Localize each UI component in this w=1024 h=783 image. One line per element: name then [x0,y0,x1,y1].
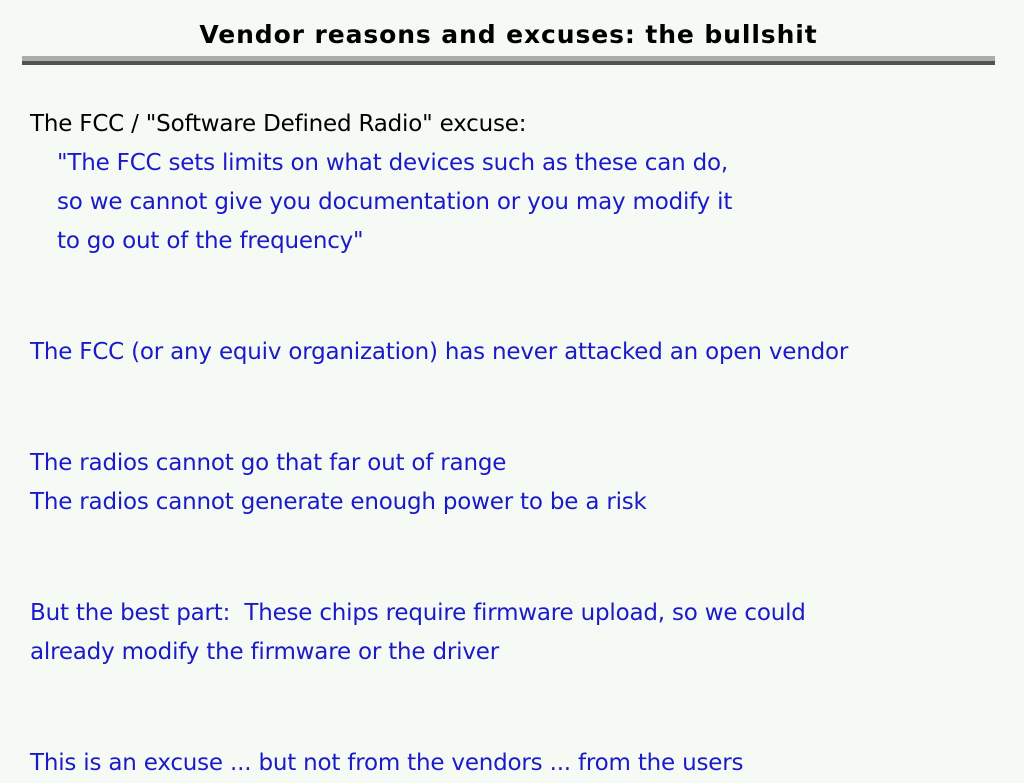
body-line: to go out of the frequency" [30,222,1005,261]
text-block: But the best part: These chips require f… [30,594,1005,672]
body-line: The radios cannot generate enough power … [30,483,1005,522]
presentation-slide: Vendor reasons and excuses: the bullshit… [0,0,1024,768]
text-block: This is an excuse ... but not from the v… [30,744,1005,783]
text-block: The radios cannot go that far out of ran… [30,444,1005,522]
slide-body: The FCC / "Software Defined Radio" excus… [30,105,1005,783]
block-spacer [30,561,1005,594]
slide-title-area: Vendor reasons and excuses: the bullshit [22,22,995,48]
body-line: But the best part: These chips require f… [30,594,1005,633]
body-line: This is an excuse ... but not from the v… [30,744,1005,783]
body-line: The FCC (or any equiv organization) has … [30,333,1005,372]
title-divider [22,56,995,65]
block-spacer [30,522,1005,561]
page-title: Vendor reasons and excuses: the bullshit [22,22,995,48]
text-block: The FCC / "Software Defined Radio" excus… [30,105,1005,261]
body-line: "The FCC sets limits on what devices suc… [30,144,1005,183]
block-spacer [30,300,1005,333]
block-spacer [30,372,1005,411]
body-line: The FCC / "Software Defined Radio" excus… [30,105,1005,144]
block-spacer [30,672,1005,711]
block-spacer [30,711,1005,744]
divider-band-dark [22,61,995,65]
body-line: so we cannot give you documentation or y… [30,183,1005,222]
block-spacer [30,411,1005,444]
body-line: already modify the firmware or the drive… [30,633,1005,672]
body-line: The radios cannot go that far out of ran… [30,444,1005,483]
text-block: The FCC (or any equiv organization) has … [30,333,1005,372]
block-spacer [30,261,1005,300]
